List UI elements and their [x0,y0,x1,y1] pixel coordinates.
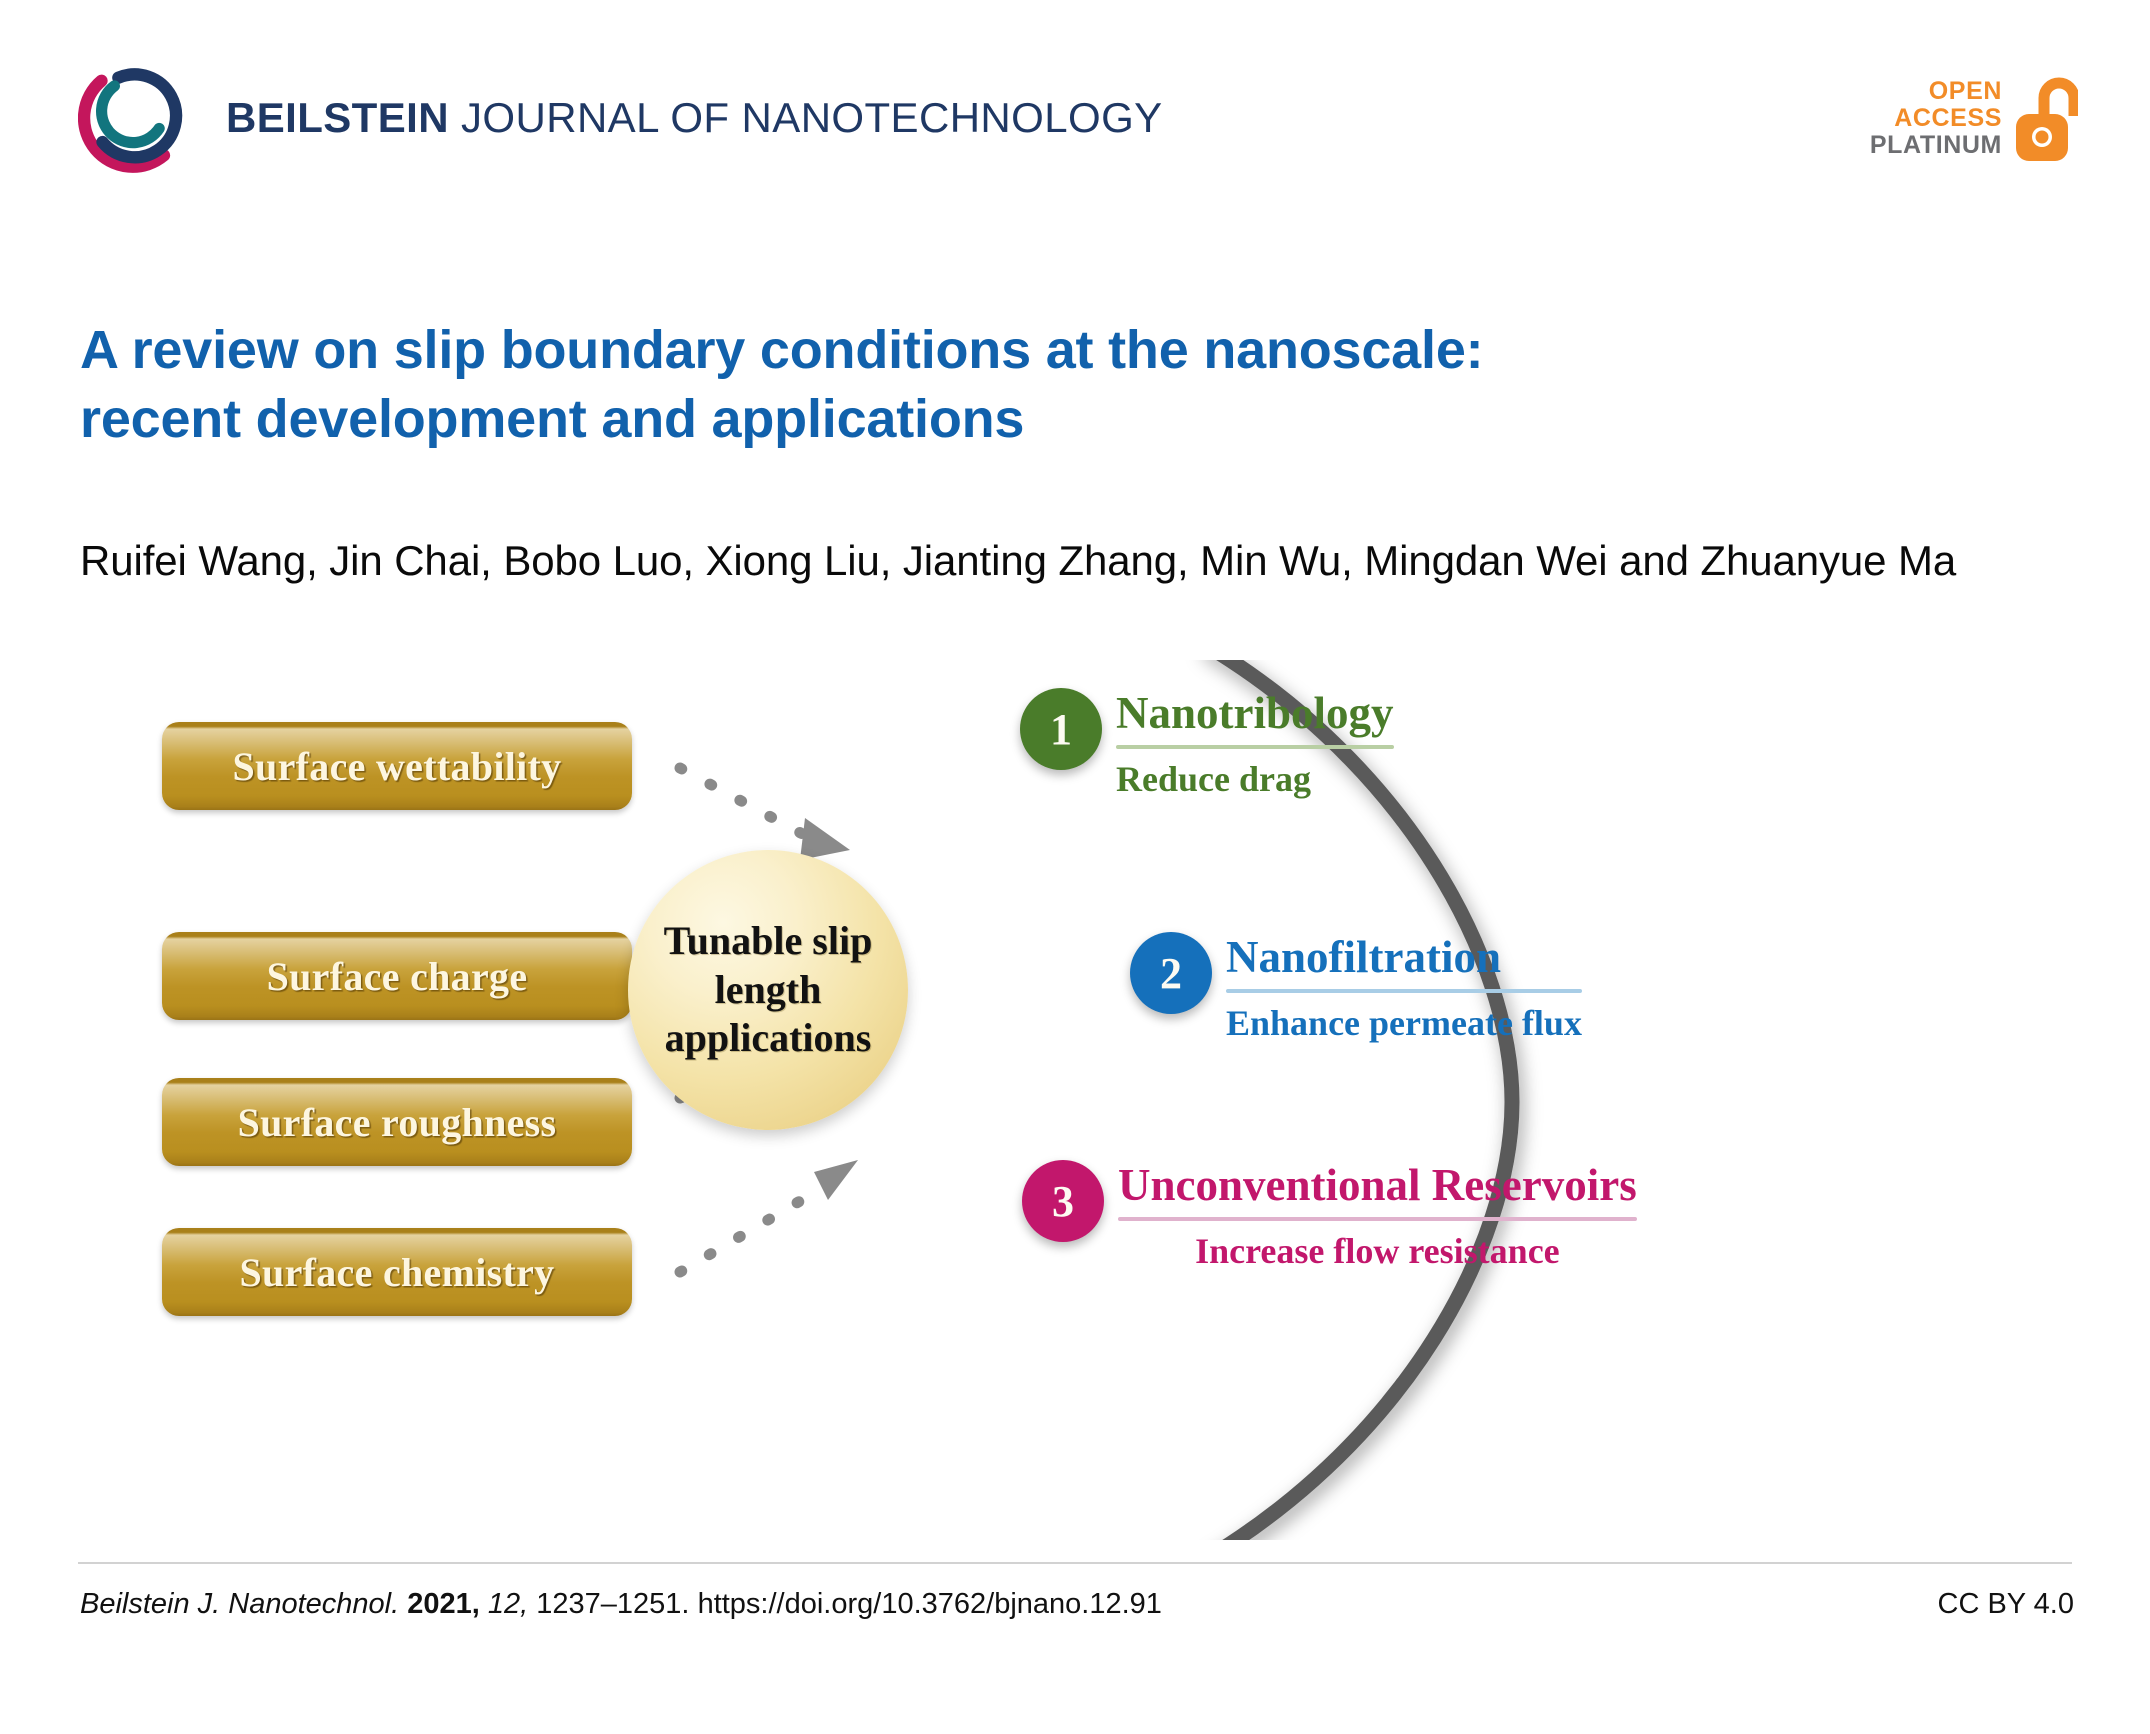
beilstein-triple-arc-logo-icon [78,62,190,174]
graphical-abstract: Surface wettability Surface charge Surfa… [150,660,2030,1540]
application-heading: Nanotribology [1116,690,1394,745]
journal-wordmark: BEILSTEIN JOURNAL OF NANOTECHNOLOGY [226,97,1163,139]
hub-line-3: applications [665,1014,872,1063]
factor-chip-label: Surface charge [267,953,528,1000]
license-label: CC BY 4.0 [1938,1588,2074,1621]
citation-year: 2021, [407,1588,480,1620]
factor-chip-surface-charge[interactable]: Surface charge [162,932,632,1020]
hub-line-1: Tunable slip [664,917,873,966]
factor-chip-label: Surface wettability [233,743,562,790]
citation-journal: Beilstein J. Nanotechnol. [80,1588,399,1620]
application-subtitle: Enhance permeate flux [1226,1002,1582,1045]
journal-brand[interactable]: BEILSTEIN JOURNAL OF NANOTECHNOLOGY [78,62,1163,174]
application-text-block: Nanotribology Reduce drag [1116,688,1394,801]
application-heading: Unconventional Reservoirs [1118,1162,1637,1217]
citation-doi-link[interactable]: https://doi.org/10.3762/bjnano.12.91 [698,1588,1162,1620]
application-heading: Nanofiltration [1226,934,1582,989]
page-title: A review on slip boundary conditions at … [80,316,1500,454]
factor-chip-surface-roughness[interactable]: Surface roughness [162,1078,632,1166]
factor-chip-label: Surface roughness [238,1099,557,1146]
application-text-block: Nanofiltration Enhance permeate flux [1226,932,1582,1045]
application-number-badge: 2 [1130,932,1212,1014]
open-access-label: OPEN ACCESS PLATINUM [1870,78,2002,159]
open-padlock-icon [2012,72,2078,164]
factor-chip-label: Surface chemistry [239,1249,554,1296]
footer-divider [78,1562,2072,1564]
arrow-wettability [680,768,850,860]
application-number: 3 [1052,1176,1074,1227]
application-node-unconventional-reservoirs[interactable]: 3 Unconventional Reservoirs Increase flo… [1022,1160,1637,1273]
application-node-nanofiltration[interactable]: 2 Nanofiltration Enhance permeate flux [1130,932,1582,1045]
application-number: 2 [1160,948,1182,999]
citation-pages: 1237–1251. [536,1588,689,1620]
citation-volume: 12, [488,1588,528,1620]
factor-chip-surface-chemistry[interactable]: Surface chemistry [162,1228,632,1316]
application-number: 1 [1050,704,1072,755]
application-number-badge: 1 [1020,688,1102,770]
application-underline [1118,1217,1637,1221]
application-number-badge: 3 [1022,1160,1104,1242]
footer-citation: Beilstein J. Nanotechnol. 2021, 12, 1237… [80,1588,1162,1621]
hub-sphere-tunable-slip-length: Tunable slip length applications [628,850,908,1130]
open-access-badge[interactable]: OPEN ACCESS PLATINUM [1870,72,2078,164]
factor-chip-surface-wettability[interactable]: Surface wettability [162,722,632,810]
open-access-line-platinum: PLATINUM [1870,132,2002,159]
wordmark-beilstein: BEILSTEIN [226,94,449,141]
arrow-chemistry [680,1160,858,1272]
open-access-line-access: ACCESS [1870,105,2002,132]
journal-masthead: BEILSTEIN JOURNAL OF NANOTECHNOLOGY OPEN… [0,0,2150,210]
hub-line-2: length [715,966,822,1015]
application-underline [1116,745,1394,749]
application-node-nanotribology[interactable]: 1 Nanotribology Reduce drag [1020,688,1394,801]
wordmark-journal-of-nanotechnology: JOURNAL OF NANOTECHNOLOGY [449,94,1163,141]
open-access-line-open: OPEN [1870,78,2002,105]
application-text-block: Unconventional Reservoirs Increase flow … [1118,1160,1637,1273]
author-list: Ruifei Wang, Jin Chai, Bobo Luo, Xiong L… [80,530,1960,592]
application-subtitle: Increase flow resistance [1118,1230,1637,1273]
application-subtitle: Reduce drag [1116,758,1394,801]
application-underline [1226,989,1582,993]
